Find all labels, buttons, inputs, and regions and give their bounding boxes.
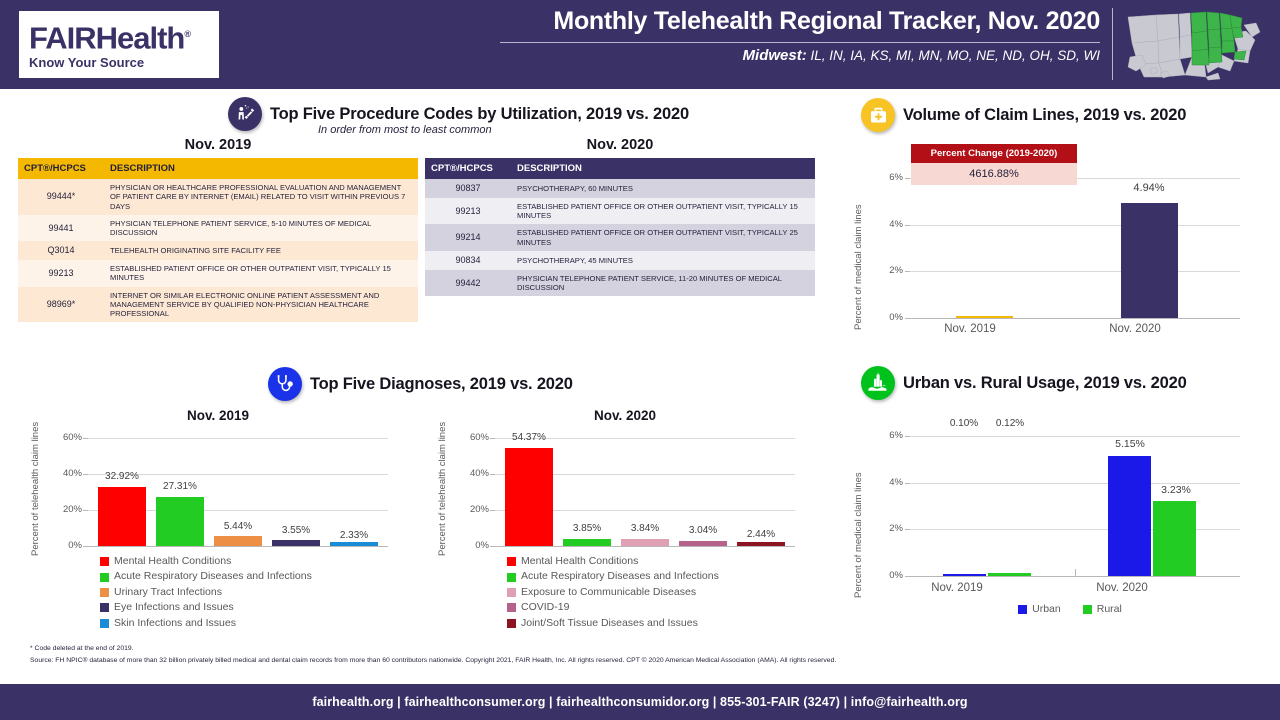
legend-swatch	[1083, 605, 1092, 614]
bar-value-label: 0.12%	[970, 418, 1050, 429]
urban-rural-section-header: Urban vs. Rural Usage, 2019 vs. 2020	[861, 366, 1187, 400]
logo-tagline: Know Your Source	[29, 55, 219, 70]
y-tick-label: 2%	[865, 265, 903, 276]
y-tick-mark	[905, 225, 910, 226]
bar-covid-19	[679, 541, 727, 547]
gridline	[910, 436, 1240, 437]
x-axis-line	[88, 546, 388, 547]
column-header-description: DESCRIPTION	[104, 158, 418, 179]
chart-legend: Urban Rural	[940, 602, 1200, 617]
legend-label: Mental Health Conditions	[521, 554, 638, 569]
page-header: FAIRHealth® Know Your Source Monthly Tel…	[0, 0, 1280, 89]
bar-rural-2020	[1153, 501, 1196, 576]
column-header-code: CPT®/HCPCS	[425, 158, 511, 179]
cell-description: ESTABLISHED PATIENT OFFICE OR OTHER OUTP…	[104, 260, 418, 287]
gridline	[910, 271, 1240, 272]
y-axis-label: Percent of telehealth claim lines	[30, 422, 41, 556]
cell-code: 99213	[425, 198, 511, 225]
legend-item: Exposure to Communicable Diseases	[507, 585, 719, 600]
plot-area: 0.10% 0.12% 5.15% 3.23%	[910, 436, 1240, 576]
bar-value-label: 3.23%	[1136, 484, 1216, 496]
table-row: 99444*PHYSICIAN OR HEALTHCARE PROFESSION…	[18, 179, 418, 215]
y-tick-label: 6%	[865, 172, 903, 183]
cell-description: ESTABLISHED PATIENT OFFICE OR OTHER OUTP…	[511, 224, 815, 251]
chart-title: Nov. 2020	[425, 408, 825, 423]
legend-swatch	[507, 557, 516, 566]
table-header-row: CPT®/HCPCS DESCRIPTION	[425, 158, 815, 179]
vaccine-syringe-icon	[228, 97, 262, 131]
bar-joint-soft-tissue	[737, 542, 785, 546]
bar-eye-infections	[272, 540, 320, 546]
y-tick-label: 0%	[865, 570, 903, 581]
region-label: Midwest:	[743, 47, 807, 64]
y-tick-mark	[490, 474, 495, 475]
claim-lines-section-header: Volume of Claim Lines, 2019 vs. 2020	[861, 98, 1186, 132]
gridline	[910, 225, 1240, 226]
legend-swatch	[100, 619, 109, 628]
cell-description: PHYSICIAN TELEPHONE PATIENT SERVICE, 5-1…	[104, 215, 418, 242]
table-row: 99441PHYSICIAN TELEPHONE PATIENT SERVICE…	[18, 215, 418, 242]
page-title: Monthly Telehealth Regional Tracker, Nov…	[500, 6, 1100, 36]
procedure-codes-subtitle: In order from most to least common	[318, 124, 492, 136]
cell-code: 90834	[425, 251, 511, 270]
cell-description: ESTABLISHED PATIENT OFFICE OR OTHER OUTP…	[511, 198, 815, 225]
percent-change-value: 4616.88%	[911, 163, 1077, 185]
y-tick-label: 60%	[451, 432, 489, 443]
legend-swatch	[1018, 605, 1027, 614]
legend-swatch	[507, 619, 516, 628]
legend-item: Eye Infections and Issues	[100, 600, 312, 615]
bar-value-label: 4.94%	[1109, 182, 1189, 194]
y-tick-label: 20%	[44, 504, 82, 515]
procedure-table-2019-year: Nov. 2019	[18, 137, 418, 153]
cell-code: 99213	[18, 260, 104, 287]
y-tick-mark	[83, 474, 88, 475]
page-footer: fairhealth.org | fairhealthconsumer.org …	[0, 684, 1280, 720]
y-axis-label: Percent of medical claim lines	[853, 472, 864, 598]
y-tick-mark	[905, 271, 910, 272]
cell-description: PHYSICIAN TELEPHONE PATIENT SERVICE, 11-…	[511, 270, 815, 297]
y-tick-mark	[490, 438, 495, 439]
y-tick-mark	[83, 438, 88, 439]
bar-mental-health	[98, 487, 146, 546]
logo-fair-text: FAIR	[29, 20, 96, 55]
procedure-codes-title: Top Five Procedure Codes by Utilization,…	[270, 105, 689, 124]
legend-item: Mental Health Conditions	[507, 554, 719, 569]
column-header-code: CPT®/HCPCS	[18, 158, 104, 179]
table-row: 99213ESTABLISHED PATIENT OFFICE OR OTHER…	[18, 260, 418, 287]
legend-item: Skin Infections and Issues	[100, 616, 312, 631]
y-tick-mark	[83, 546, 88, 547]
chart-legend: Mental Health Conditions Acute Respirato…	[100, 554, 312, 631]
header-divider-rule	[500, 42, 1100, 43]
claim-lines-title: Volume of Claim Lines, 2019 vs. 2020	[903, 106, 1186, 125]
legend-swatch	[100, 588, 109, 597]
bar-nov-2020	[1121, 203, 1178, 318]
cell-code: 99214	[425, 224, 511, 251]
bar-urban-2020	[1108, 456, 1151, 576]
table-row: 99442PHYSICIAN TELEPHONE PATIENT SERVICE…	[425, 270, 815, 297]
bar-nov-2019	[956, 316, 1013, 318]
legend-item: Mental Health Conditions	[100, 554, 312, 569]
cell-code: 90837	[425, 179, 511, 198]
x-category-label: Nov. 2020	[1057, 582, 1187, 594]
legend-item: Acute Respiratory Diseases and Infection…	[507, 569, 719, 584]
diagnoses-2019-chart: Nov. 2019 Percent of telehealth claim li…	[18, 408, 418, 633]
y-tick-label: 0%	[44, 540, 82, 551]
legend-item: Acute Respiratory Diseases and Infection…	[100, 569, 312, 584]
percent-change-header: Percent Change (2019-2020)	[911, 144, 1077, 163]
y-tick-mark	[83, 510, 88, 511]
legend-swatch	[100, 573, 109, 582]
y-tick-mark	[490, 510, 495, 511]
legend-label: Joint/Soft Tissue Diseases and Issues	[521, 616, 698, 631]
legend-item: Rural	[1083, 602, 1122, 617]
y-tick-label: 0%	[865, 312, 903, 323]
legend-label: COVID-19	[521, 600, 569, 615]
bar-skin-infections	[330, 542, 378, 546]
legend-swatch	[507, 588, 516, 597]
table-row: 98969*INTERNET OR SIMILAR ELECTRONIC ONL…	[18, 287, 418, 323]
logo-registered-mark: ®	[184, 29, 190, 39]
legend-label: Urinary Tract Infections	[114, 585, 222, 600]
procedure-codes-table-2019: CPT®/HCPCS DESCRIPTION 99444*PHYSICIAN O…	[18, 158, 418, 322]
y-axis-label: Percent of medical claim lines	[853, 204, 864, 330]
y-tick-label: 6%	[865, 430, 903, 441]
volume-claim-lines-chart: Percent of medical claim lines 0.10% 4.9…	[845, 140, 1270, 355]
stethoscope-icon	[268, 367, 302, 401]
bar-value-label: 2.44%	[721, 529, 801, 540]
bar-value-label: 54.37%	[489, 432, 569, 443]
cell-description: TELEHEALTH ORIGINATING SITE FACILITY FEE	[104, 241, 418, 260]
gridline	[88, 438, 388, 439]
legend-swatch	[507, 603, 516, 612]
diagnoses-title: Top Five Diagnoses, 2019 vs. 2020	[310, 375, 573, 394]
logo-wordmark: FAIRHealth®	[29, 19, 219, 53]
legend-item: Joint/Soft Tissue Diseases and Issues	[507, 616, 719, 631]
legend-label: Rural	[1097, 602, 1122, 617]
legend-label: Eye Infections and Issues	[114, 600, 234, 615]
region-states: IL, IN, IA, KS, MI, MN, MO, NE, ND, OH, …	[810, 48, 1100, 63]
urban-vs-rural-chart: Percent of medical claim lines 0.10% 0.1…	[845, 408, 1270, 623]
y-tick-mark	[905, 436, 910, 437]
chart-legend: Mental Health Conditions Acute Respirato…	[507, 554, 719, 631]
bar-acute-respiratory	[156, 497, 204, 546]
y-tick-mark	[905, 178, 910, 179]
table-header-row: CPT®/HCPCS DESCRIPTION	[18, 158, 418, 179]
bar-rural-2019	[988, 573, 1031, 576]
x-axis-group-divider	[1075, 569, 1076, 577]
legend-swatch	[100, 557, 109, 566]
y-tick-label: 40%	[44, 468, 82, 479]
y-tick-mark	[905, 529, 910, 530]
bar-exposure-communicable	[621, 539, 669, 546]
y-tick-mark	[905, 483, 910, 484]
city-skyline-icon	[861, 366, 895, 400]
y-tick-label: 4%	[865, 219, 903, 230]
cell-description: PSYCHOTHERAPY, 60 MINUTES	[511, 179, 815, 198]
table-row: 90837PSYCHOTHERAPY, 60 MINUTES	[425, 179, 815, 198]
x-category-label: Nov. 2020	[1070, 323, 1200, 335]
y-tick-label: 4%	[865, 477, 903, 488]
plot-area: 32.92% 27.31% 5.44% 3.55% 2.33%	[88, 438, 388, 546]
legend-item: Urinary Tract Infections	[100, 585, 312, 600]
procedure-codes-table-2020: CPT®/HCPCS DESCRIPTION 90837PSYCHOTHERAP…	[425, 158, 815, 296]
cell-description: PSYCHOTHERAPY, 45 MINUTES	[511, 251, 815, 270]
legend-label: Mental Health Conditions	[114, 554, 231, 569]
header-vertical-divider	[1112, 8, 1113, 80]
procedure-table-2020-year: Nov. 2020	[425, 137, 815, 153]
bar-acute-respiratory	[563, 539, 611, 546]
x-axis-line	[495, 546, 795, 547]
footnote-code-deleted: * Code deleted at the end of 2019.	[30, 643, 1260, 655]
region-subtitle: Midwest: IL, IN, IA, KS, MI, MN, MO, NE,…	[500, 47, 1100, 64]
diagnoses-2020-chart: Nov. 2020 Percent of telehealth claim li…	[425, 408, 825, 633]
y-tick-mark	[905, 576, 910, 577]
y-tick-label: 40%	[451, 468, 489, 479]
bar-urban-2019	[943, 574, 986, 576]
cell-code: 98969*	[18, 287, 104, 323]
bar-urinary-tract	[214, 536, 262, 546]
legend-label: Urban	[1032, 602, 1061, 617]
legend-label: Acute Respiratory Diseases and Infection…	[114, 569, 312, 584]
table-row: 99213ESTABLISHED PATIENT OFFICE OR OTHER…	[425, 198, 815, 225]
percent-change-callout: Percent Change (2019-2020) 4616.88%	[911, 144, 1077, 185]
us-map-midwest-icon	[1122, 7, 1270, 83]
legend-swatch	[100, 603, 109, 612]
legend-swatch	[507, 573, 516, 582]
plot-area: 54.37% 3.85% 3.84% 3.04% 2.44%	[495, 438, 795, 546]
column-header-description: DESCRIPTION	[511, 158, 815, 179]
y-axis-label: Percent of telehealth claim lines	[437, 422, 448, 556]
cell-code: Q3014	[18, 241, 104, 260]
legend-item: COVID-19	[507, 600, 719, 615]
cell-description: PHYSICIAN OR HEALTHCARE PROFESSIONAL EVA…	[104, 179, 418, 215]
medical-bag-icon	[861, 98, 895, 132]
bar-value-label: 2.33%	[314, 530, 394, 541]
cell-description: INTERNET OR SIMILAR ELECTRONIC ONLINE PA…	[104, 287, 418, 323]
diagnoses-section-header: Top Five Diagnoses, 2019 vs. 2020	[268, 367, 573, 401]
y-tick-label: 20%	[451, 504, 489, 515]
x-axis-line	[910, 318, 1240, 319]
y-tick-label: 0%	[451, 540, 489, 551]
logo-health-text: Health	[96, 20, 185, 55]
x-category-label: Nov. 2019	[905, 323, 1035, 335]
legend-label: Skin Infections and Issues	[114, 616, 236, 631]
cell-code: 99441	[18, 215, 104, 242]
x-category-label: Nov. 2019	[892, 582, 1022, 594]
y-tick-mark	[905, 318, 910, 319]
legend-item: Urban	[1018, 602, 1061, 617]
legend-label: Acute Respiratory Diseases and Infection…	[521, 569, 719, 584]
bar-value-label: 5.15%	[1090, 438, 1170, 450]
urban-rural-title: Urban vs. Rural Usage, 2019 vs. 2020	[903, 374, 1187, 393]
y-tick-label: 60%	[44, 432, 82, 443]
footnote-source: Source: FH NPIC® database of more than 3…	[30, 655, 1260, 667]
footnotes: * Code deleted at the end of 2019. Sourc…	[30, 643, 1260, 666]
fair-health-logo: FAIRHealth® Know Your Source	[19, 11, 219, 78]
legend-label: Exposure to Communicable Diseases	[521, 585, 696, 600]
table-row: 90834PSYCHOTHERAPY, 45 MINUTES	[425, 251, 815, 270]
chart-title: Nov. 2019	[18, 408, 418, 423]
bar-value-label: 27.31%	[140, 481, 220, 492]
plot-area: 0.10% 4.94%	[910, 178, 1240, 318]
bar-mental-health	[505, 448, 553, 546]
y-tick-mark	[490, 546, 495, 547]
table-row: 99214ESTABLISHED PATIENT OFFICE OR OTHER…	[425, 224, 815, 251]
cell-code: 99442	[425, 270, 511, 297]
y-tick-label: 2%	[865, 523, 903, 534]
footer-links[interactable]: fairhealth.org | fairhealthconsumer.org …	[312, 695, 967, 709]
table-row: Q3014TELEHEALTH ORIGINATING SITE FACILIT…	[18, 241, 418, 260]
cell-code: 99444*	[18, 179, 104, 215]
header-title-group: Monthly Telehealth Regional Tracker, Nov…	[500, 6, 1100, 64]
